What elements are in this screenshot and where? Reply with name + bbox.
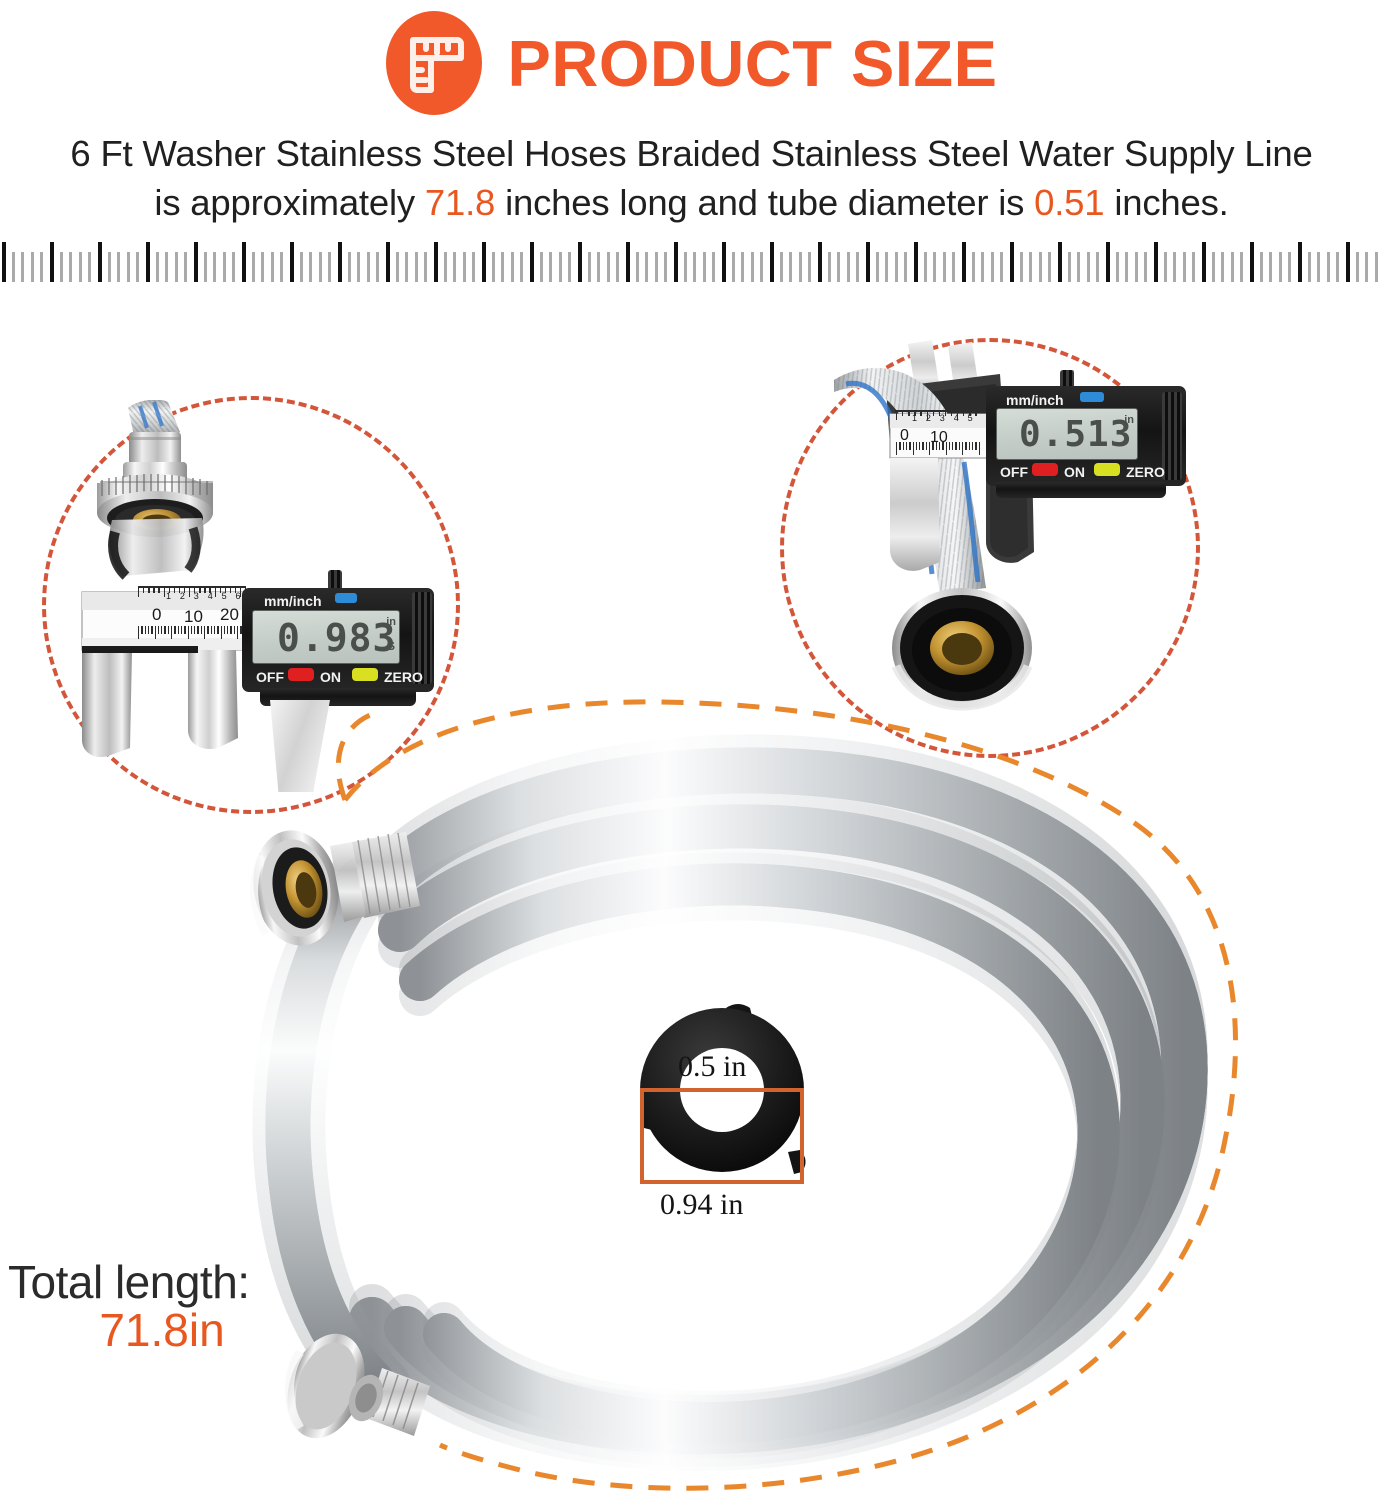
outer-diameter-line (640, 1180, 804, 1184)
inner-diameter-line (640, 1088, 804, 1092)
washer-dimension-diagram: 0.5 in 0.94 in (634, 1000, 864, 1225)
outer-diameter-label: 0.94 in (660, 1190, 743, 1220)
outer-dim-right-extension (800, 1088, 804, 1184)
inner-diameter-label: 0.5 in (678, 1052, 746, 1082)
outer-dim-left-extension (640, 1088, 644, 1184)
total-length-label: Total length: (8, 1258, 298, 1306)
total-length-callout: Total length: 71.8in (8, 1258, 298, 1355)
total-length-value: 71.8in (8, 1306, 298, 1354)
